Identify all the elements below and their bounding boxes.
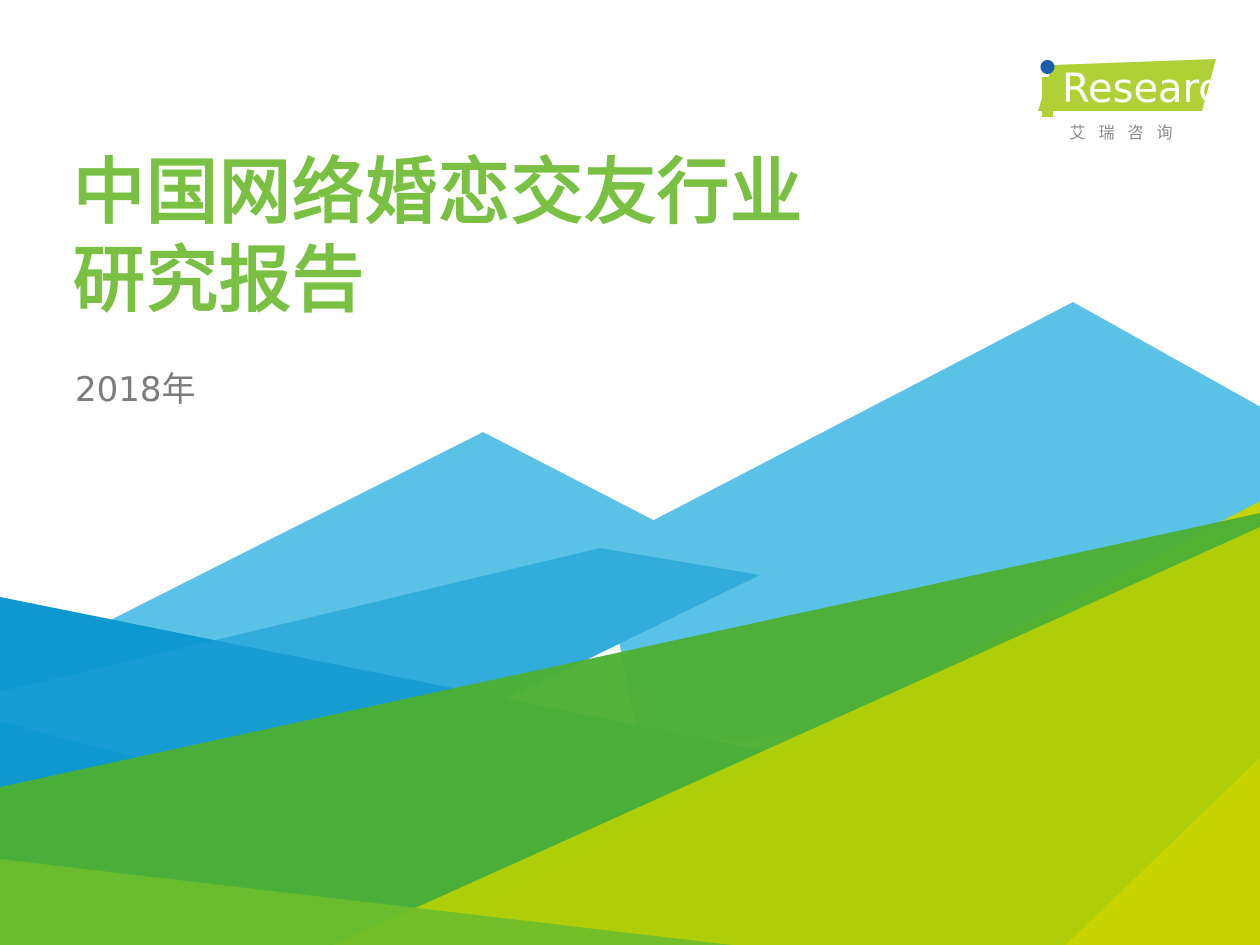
- page-subtitle-year: 2018年: [75, 368, 196, 412]
- logo-i-dot-icon: [1041, 60, 1055, 74]
- logo-wordmark: Research: [1062, 66, 1216, 112]
- logo-i-stem: [1042, 77, 1053, 117]
- page-title: 中国网络婚恋交友行业 研究报告: [73, 148, 933, 324]
- iresearch-logo-mark: Research: [1026, 55, 1216, 117]
- report-cover-slide: Research 艾瑞咨询 中国网络婚恋交友行业 研究报告 2018年: [0, 0, 1260, 945]
- page-title-line-2: 研究报告: [73, 236, 933, 324]
- page-title-line-1: 中国网络婚恋交友行业: [73, 148, 933, 236]
- logo-chinese-name: 艾瑞咨询: [1030, 119, 1212, 143]
- iresearch-logo: Research 艾瑞咨询: [1026, 55, 1216, 150]
